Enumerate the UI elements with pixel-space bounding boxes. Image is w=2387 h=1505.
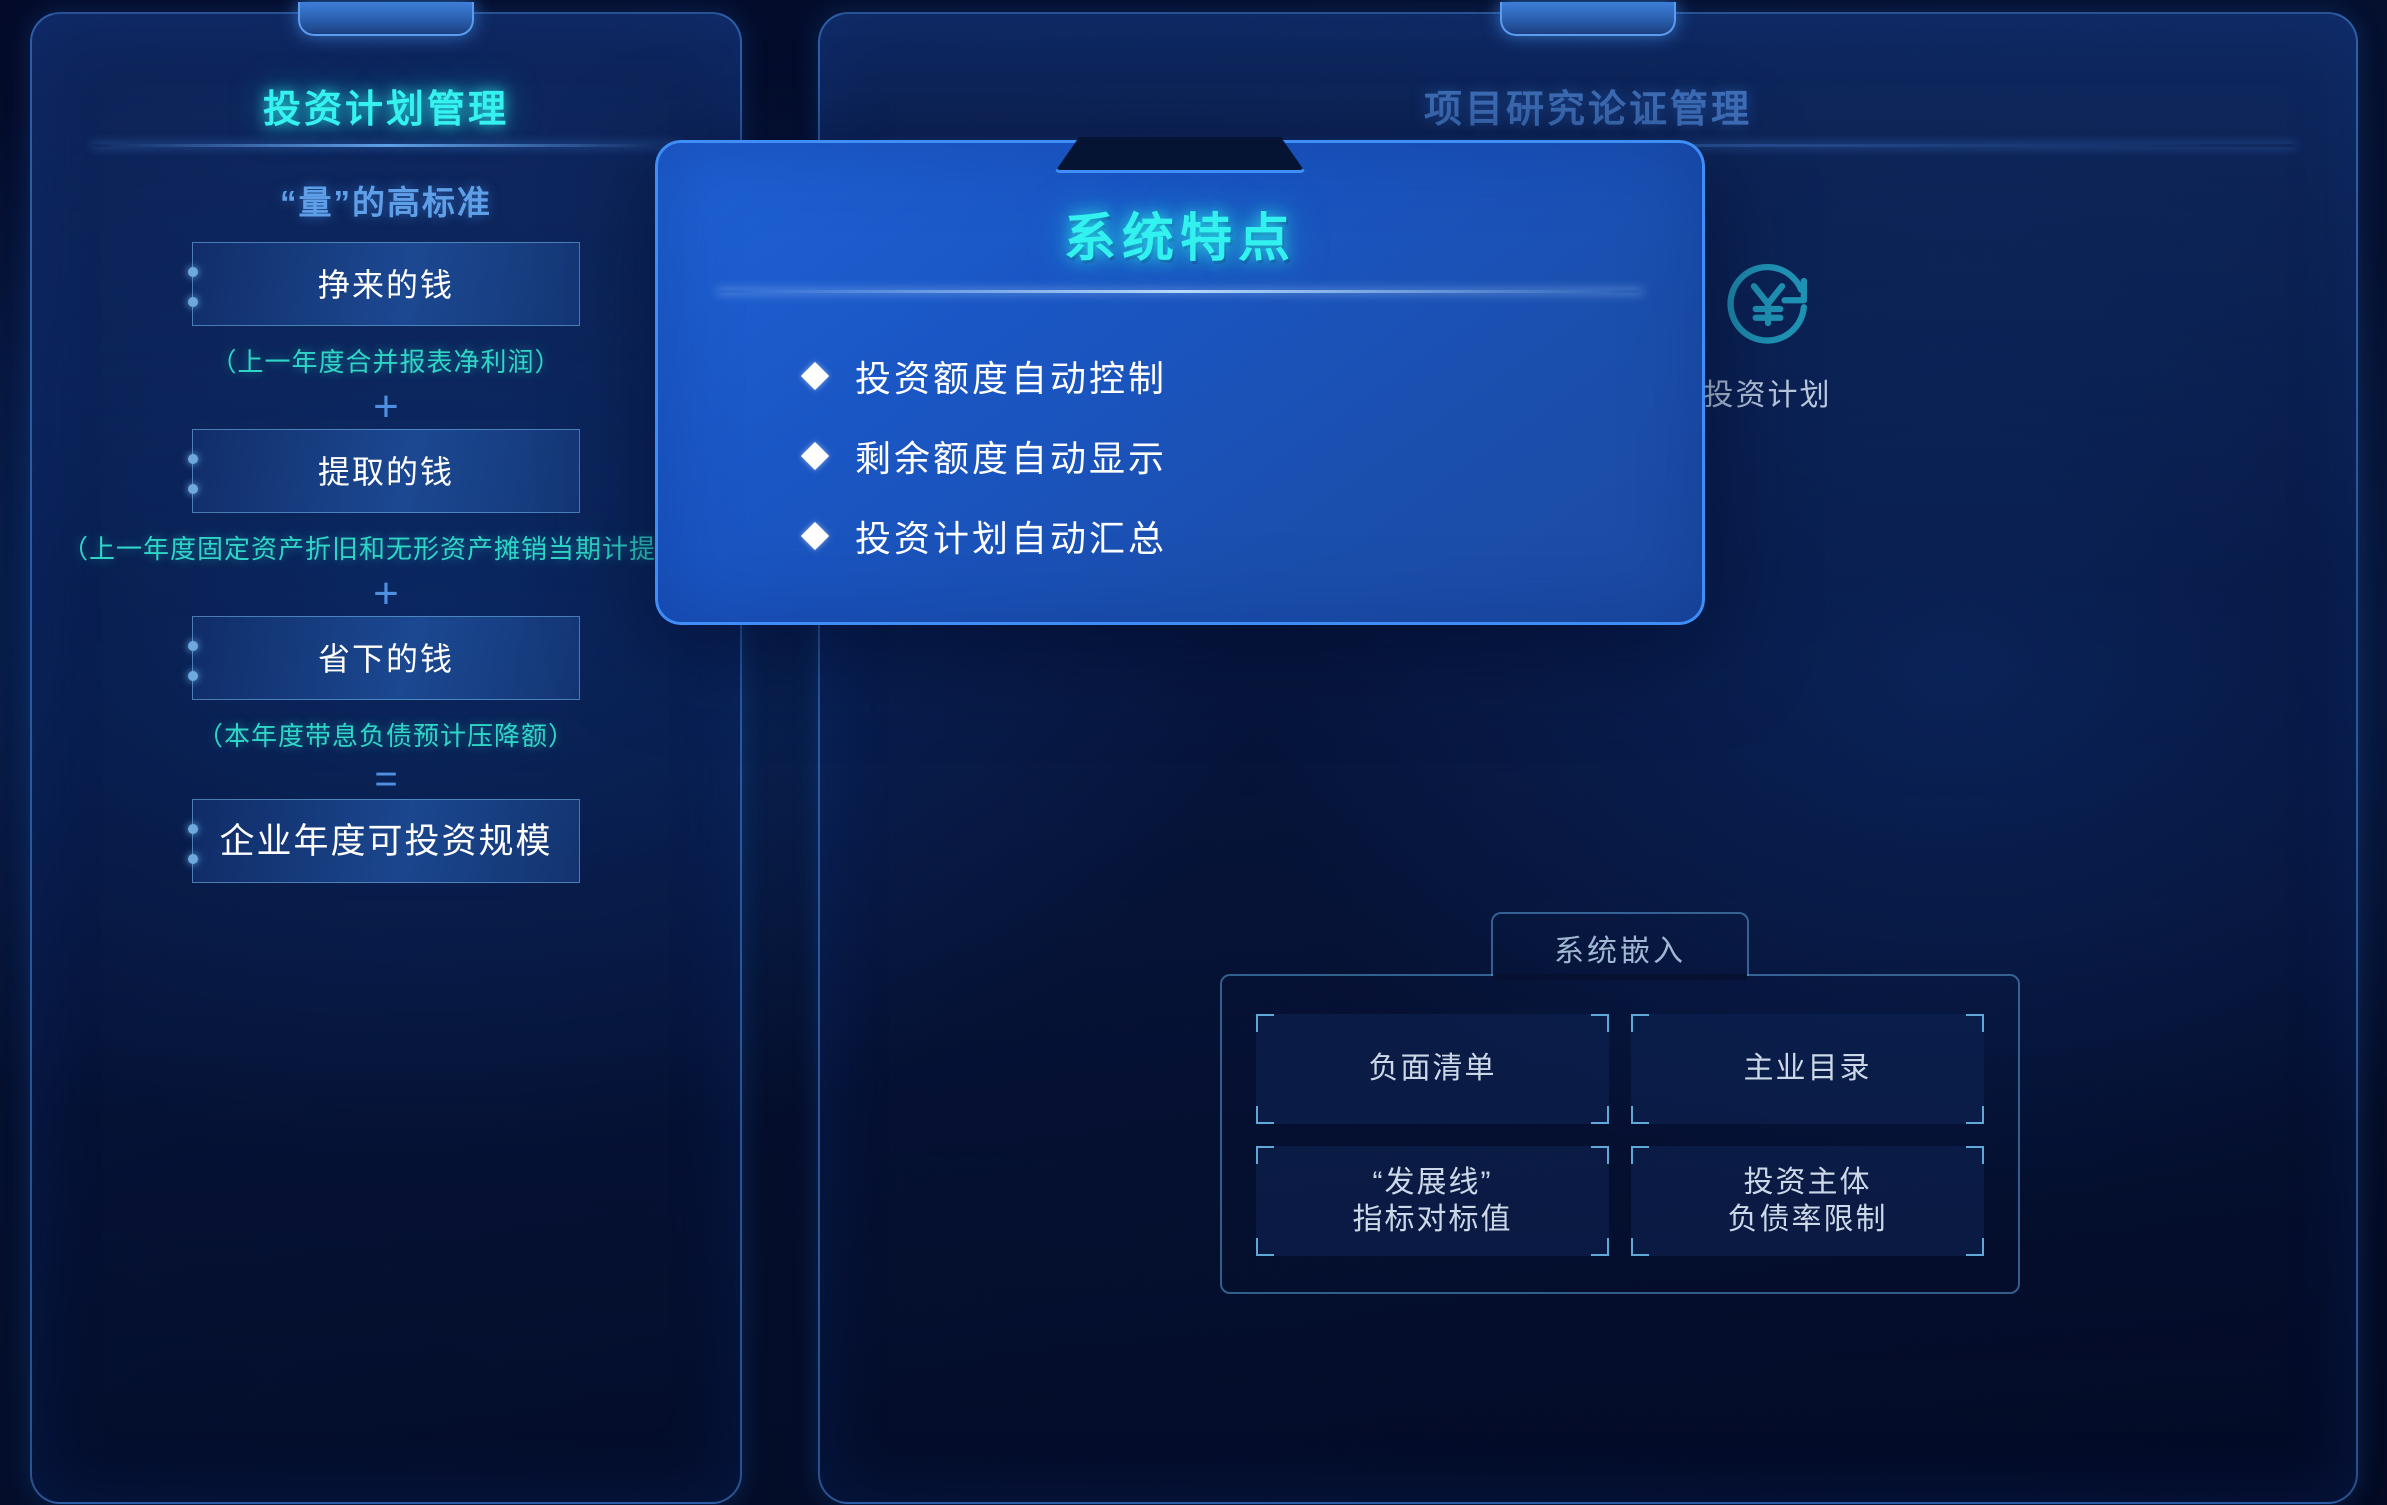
investment-capacity-flow: 挣来的钱 （上一年度合并报表净利润） + 提取的钱 （上一年度固定资产折旧和无形…: [32, 242, 740, 883]
panel-investment-plan-management: 投资计划管理 “量”的高标准 挣来的钱 （上一年度合并报表净利润） + 提取的钱…: [30, 12, 742, 1504]
system-embed-legend-frame: 系统嵌入: [1491, 912, 1749, 976]
feature-label: 投资计划自动汇总: [855, 510, 1167, 562]
diamond-bullet-icon: [801, 442, 829, 470]
flow-box-extracted-money[interactable]: 提取的钱: [192, 429, 580, 513]
corner-bracket-icon: [1966, 1106, 1984, 1124]
corner-bracket-icon: [1256, 1014, 1274, 1032]
folder-notch: [1054, 137, 1306, 173]
left-title-divider: [92, 144, 680, 147]
corner-bracket-icon: [1631, 1106, 1649, 1124]
embed-box-negative-list[interactable]: 负面清单: [1256, 1014, 1609, 1124]
system-embed-grid: 负面清单 主业目录 “发展线” 指标对标值 投资主体 负债率限制: [1256, 1014, 1984, 1256]
corner-bracket-icon: [1631, 1238, 1649, 1256]
diamond-bullet-icon: [801, 362, 829, 390]
corner-bracket-icon: [1966, 1014, 1984, 1032]
panel-tab-left: [298, 2, 474, 36]
list-item: 投资额度自动控制: [805, 350, 1645, 402]
embed-box-development-line-benchmark[interactable]: “发展线” 指标对标值: [1256, 1146, 1609, 1256]
flow-box-label: 提取的钱: [318, 454, 454, 490]
slide-canvas: 投资计划管理 “量”的高标准 挣来的钱 （上一年度合并报表净利润） + 提取的钱…: [0, 0, 2387, 1505]
flow-box-label: 企业年度可投资规模: [219, 822, 552, 861]
flow-operator-plus-2: +: [32, 572, 740, 616]
flow-note-extracted-money: （上一年度固定资产折旧和无形资产摊销当期计提额）: [32, 529, 740, 566]
corner-bracket-icon: [1256, 1146, 1274, 1164]
left-panel-title: 投资计划管理: [32, 78, 740, 133]
corner-bracket-icon: [1591, 1106, 1609, 1124]
corner-bracket-icon: [1256, 1106, 1274, 1124]
system-embed-legend-label: 系统嵌入: [1493, 926, 1747, 970]
embed-box-investor-debt-ratio-limit[interactable]: 投资主体 负债率限制: [1631, 1146, 1984, 1256]
system-features-list: 投资额度自动控制 剩余额度自动显示 投资计划自动汇总: [805, 350, 1645, 590]
corner-bracket-icon: [1591, 1014, 1609, 1032]
flow-box-annual-investable-scale[interactable]: 企业年度可投资规模: [192, 799, 580, 883]
feature-label: 投资额度自动控制: [855, 350, 1167, 402]
icon-grid-spacer: [1945, 239, 2300, 414]
flow-box-label: 省下的钱: [318, 641, 454, 677]
list-item: 剩余额度自动显示: [805, 430, 1645, 482]
corner-bracket-icon: [1256, 1238, 1274, 1256]
corner-bracket-icon: [1966, 1146, 1984, 1164]
embed-box-label: 主业目录: [1744, 1050, 1872, 1088]
flow-note-saved-money: （本年度带息负债预计压降额）: [32, 716, 740, 753]
system-features-divider: [717, 290, 1643, 293]
list-item: 投资计划自动汇总: [805, 510, 1645, 562]
corner-bracket-icon: [1631, 1014, 1649, 1032]
flow-box-label: 挣来的钱: [318, 267, 454, 303]
legend-border-mask: [1493, 974, 1747, 980]
flow-box-earned-money[interactable]: 挣来的钱: [192, 242, 580, 326]
embed-box-label: “发展线” 指标对标值: [1353, 1164, 1513, 1239]
diamond-bullet-icon: [801, 522, 829, 550]
flow-box-saved-money[interactable]: 省下的钱: [192, 616, 580, 700]
corner-bracket-icon: [1591, 1238, 1609, 1256]
system-embed-group: 系统嵌入 负面清单 主业目录 “发展线” 指标对标值: [1220, 974, 2020, 1294]
corner-bracket-icon: [1966, 1238, 1984, 1256]
left-panel-subtitle: “量”的高标准: [32, 176, 740, 224]
flow-operator-equals: =: [32, 759, 740, 799]
corner-bracket-icon: [1591, 1146, 1609, 1164]
embed-box-label: 负面清单: [1369, 1050, 1497, 1088]
feature-label: 剩余额度自动显示: [855, 430, 1167, 482]
right-panel-title: 项目研究论证管理: [820, 78, 2356, 133]
flow-note-earned-money: （上一年度合并报表净利润）: [32, 342, 740, 379]
flow-operator-plus-1: +: [32, 385, 740, 429]
panel-tab-right: [1500, 2, 1676, 36]
system-features-title: 系统特点: [655, 196, 1705, 271]
corner-bracket-icon: [1631, 1146, 1649, 1164]
embed-box-main-business-catalog[interactable]: 主业目录: [1631, 1014, 1984, 1124]
embed-box-label: 投资主体 负债率限制: [1728, 1164, 1888, 1239]
system-features-card[interactable]: 系统特点 投资额度自动控制 剩余额度自动显示 投资计划自动汇总: [655, 140, 1705, 625]
